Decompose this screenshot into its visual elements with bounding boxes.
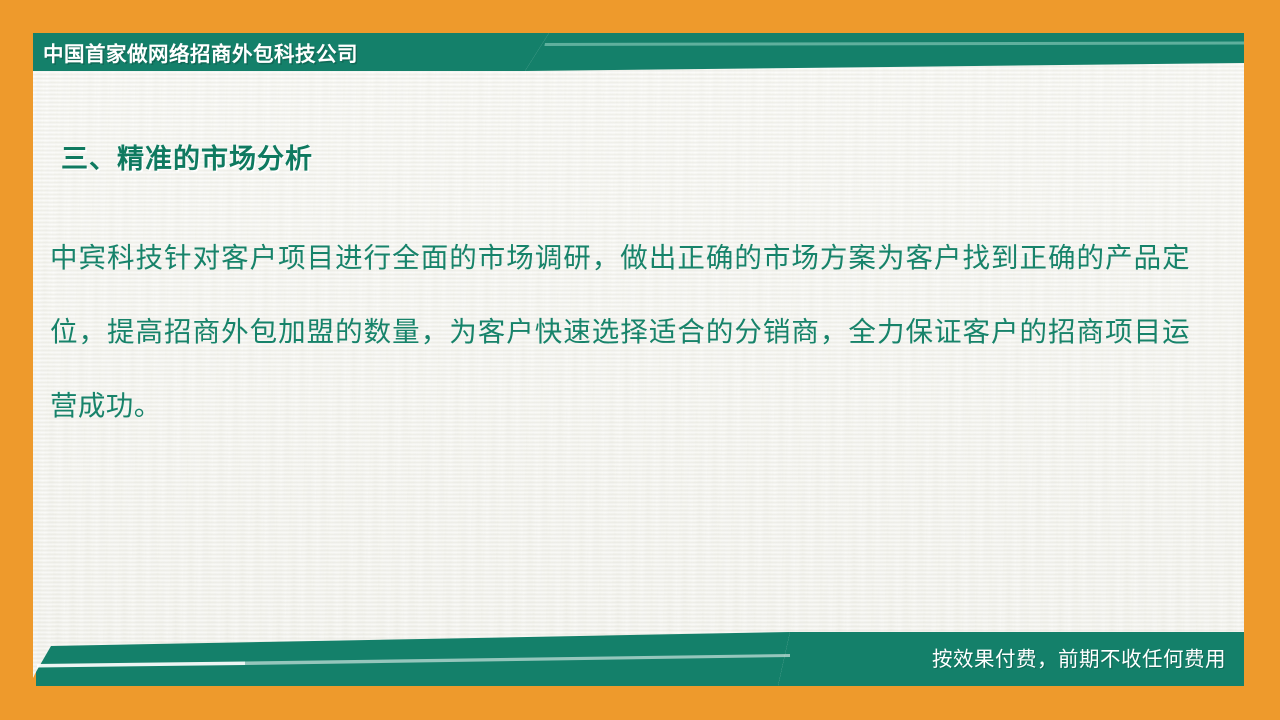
section-heading: 三、精准的市场分析 [61, 137, 313, 176]
slide-canvas: 中国首家做网络招商外包科技公司 三、精准的市场分析 中宾科技针对客户项目进行全面… [0, 0, 1280, 720]
body-paragraph: 中宾科技针对客户项目进行全面的市场调研，做出正确的市场方案为客户找到正确的产品定… [50, 221, 1190, 443]
slide-content: 三、精准的市场分析 中宾科技针对客户项目进行全面的市场调研，做出正确的市场方案为… [33, 71, 1244, 631]
